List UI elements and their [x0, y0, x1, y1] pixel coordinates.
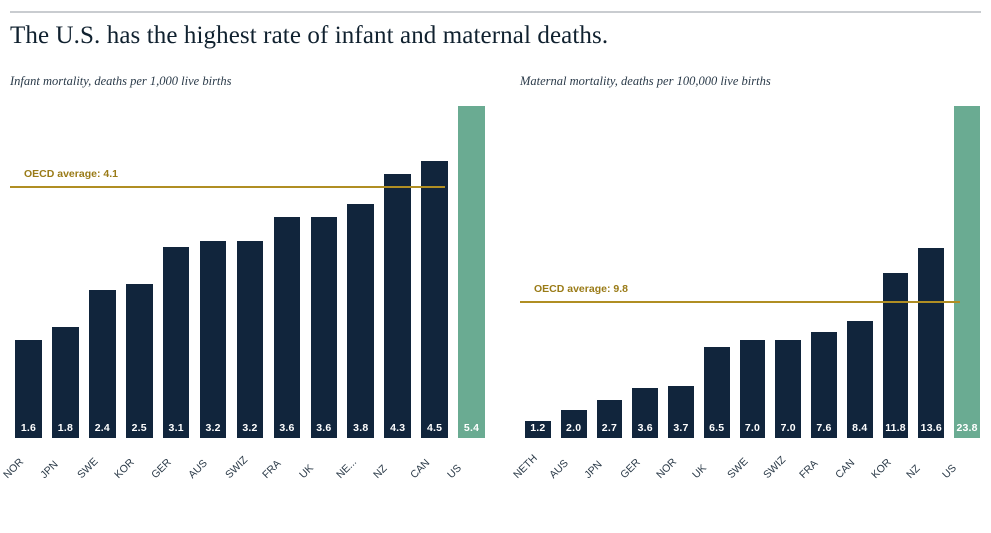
x-label-column: US	[453, 438, 490, 496]
bar: 1.8	[52, 327, 79, 438]
x-label-column: AUS	[195, 438, 232, 496]
bar-group-maternal: 1.22.02.73.63.76.57.07.07.68.411.813.623…	[520, 106, 985, 438]
bar-value-label: 23.8	[954, 422, 980, 434]
chart-subtitle-maternal: Maternal mortality, deaths per 100,000 l…	[520, 74, 985, 92]
bar-column: 7.6	[806, 106, 842, 438]
bar: 4.5	[421, 161, 448, 438]
bar: 2.0	[561, 410, 587, 438]
x-label-column: SWIZ	[232, 438, 269, 496]
x-label-column: JPN	[47, 438, 84, 496]
oecd-average-label-maternal: OECD average: 9.8	[534, 283, 628, 295]
bar: 1.6	[15, 340, 42, 438]
x-axis-labels-maternal: NETHAUSJPNGERNORUKSWESWIZFRACANKORNZUS	[520, 438, 985, 496]
bar-column: 1.8	[47, 106, 84, 438]
page-title: The U.S. has the highest rate of infant …	[10, 22, 950, 50]
bar-value-label: 2.5	[126, 422, 153, 434]
x-label-column: US	[949, 438, 985, 496]
x-axis-tick-label: NOR	[2, 456, 27, 481]
bar-value-label: 7.6	[811, 422, 837, 434]
x-label-column: NOR	[663, 438, 699, 496]
chart-subtitle-infant: Infant mortality, deaths per 1,000 live …	[10, 74, 490, 92]
bar-value-label: 1.8	[52, 422, 79, 434]
x-label-column: CAN	[416, 438, 453, 496]
bar-column: 2.5	[121, 106, 158, 438]
bar-column: 2.4	[84, 106, 121, 438]
bar-value-label: 1.2	[525, 422, 551, 434]
bar-column: 7.0	[735, 106, 771, 438]
bar-column: 5.4	[453, 106, 490, 438]
x-label-column: FRA	[268, 438, 305, 496]
bar-value-label: 4.5	[421, 422, 448, 434]
bar: 7.0	[775, 340, 801, 438]
bar: 2.7	[597, 400, 623, 438]
bar-column: 7.0	[770, 106, 806, 438]
bar-value-label: 3.7	[668, 422, 694, 434]
bar-value-label: 3.2	[200, 422, 227, 434]
bar-value-label: 2.7	[597, 422, 623, 434]
bar: 4.3	[384, 174, 411, 438]
bar-value-label: 8.4	[847, 422, 873, 434]
bar-value-label: 5.4	[458, 422, 485, 434]
bar-value-label: 4.3	[384, 422, 411, 434]
bar: 3.6	[311, 217, 338, 438]
x-label-column: UK	[305, 438, 342, 496]
bar-column: 3.2	[232, 106, 269, 438]
x-label-column: NETH	[520, 438, 556, 496]
bar-group-infant: 1.61.82.42.53.13.23.23.63.63.84.34.55.4	[10, 106, 490, 438]
bar-value-label: 3.6	[274, 422, 301, 434]
bar-column: 2.7	[592, 106, 628, 438]
bar: 3.6	[274, 217, 301, 438]
chart-panel-infant-mortality: Infant mortality, deaths per 1,000 live …	[10, 74, 490, 514]
bar-value-label: 3.8	[347, 422, 374, 434]
x-axis-labels-infant: NORJPNSWEKORGERAUSSWIZFRAUKNE...NZCANUS	[10, 438, 490, 496]
bar-column: 1.6	[10, 106, 47, 438]
bar-value-label: 7.0	[775, 422, 801, 434]
bar-value-label: 7.0	[740, 422, 766, 434]
bar-value-label: 13.6	[918, 422, 944, 434]
chart-page: The U.S. has the highest rate of infant …	[0, 0, 991, 533]
bar-value-label: 2.0	[561, 422, 587, 434]
x-label-column: GER	[158, 438, 195, 496]
bar-value-label: 3.6	[632, 422, 658, 434]
bar-value-label: 3.2	[237, 422, 264, 434]
bar-value-label: 6.5	[704, 422, 730, 434]
x-label-column: KOR	[121, 438, 158, 496]
bar-column: 11.8	[878, 106, 914, 438]
bar-column: 3.1	[158, 106, 195, 438]
bar-column: 3.8	[342, 106, 379, 438]
bar: 1.2	[525, 421, 551, 438]
bar-column: 13.6	[913, 106, 949, 438]
bar: 3.2	[237, 241, 264, 438]
oecd-average-line-infant	[10, 186, 445, 188]
plot-area-maternal: 1.22.02.73.63.76.57.07.07.68.411.813.623…	[520, 106, 985, 496]
bar-column: 4.5	[416, 106, 453, 438]
chart-panel-maternal-mortality: Maternal mortality, deaths per 100,000 l…	[520, 74, 985, 514]
bar-value-label: 3.6	[311, 422, 338, 434]
x-label-column: NZ	[379, 438, 416, 496]
bar: 3.8	[347, 204, 374, 438]
bar: 2.5	[126, 284, 153, 438]
bar-column: 4.3	[379, 106, 416, 438]
bar-column: 3.7	[663, 106, 699, 438]
bar-column: 8.4	[842, 106, 878, 438]
bar: 2.4	[89, 290, 116, 438]
x-label-column: FRA	[806, 438, 842, 496]
oecd-average-line-maternal	[520, 301, 960, 303]
bar-column: 3.6	[268, 106, 305, 438]
x-axis-tick-label: NETH	[511, 452, 540, 481]
oecd-average-label-infant: OECD average: 4.1	[24, 168, 118, 180]
bar: 11.8	[883, 273, 909, 438]
bar: 7.6	[811, 332, 837, 438]
plot-area-infant: 1.61.82.42.53.13.23.23.63.63.84.34.55.4 …	[10, 106, 490, 496]
x-label-column: NOR	[10, 438, 47, 496]
bar: 6.5	[704, 347, 730, 438]
bar: 3.2	[200, 241, 227, 438]
header-divider	[10, 11, 981, 13]
bar-column: 2.0	[556, 106, 592, 438]
bar: 23.8	[954, 106, 980, 438]
bar-value-label: 1.6	[15, 422, 42, 434]
bar-column: 3.6	[627, 106, 663, 438]
bar: 3.1	[163, 247, 190, 438]
bar-column: 3.2	[195, 106, 232, 438]
x-label-column: SWE	[84, 438, 121, 496]
bar-column: 1.2	[520, 106, 556, 438]
x-label-column: NE...	[342, 438, 379, 496]
bar-column: 3.6	[305, 106, 342, 438]
bar: 3.7	[668, 386, 694, 438]
bar: 5.4	[458, 106, 485, 438]
bar: 13.6	[918, 248, 944, 438]
bar-value-label: 2.4	[89, 422, 116, 434]
bar-value-label: 3.1	[163, 422, 190, 434]
bar-column: 23.8	[949, 106, 985, 438]
bar-value-label: 11.8	[883, 422, 909, 434]
bar: 3.6	[632, 388, 658, 438]
x-label-column: CAN	[842, 438, 878, 496]
bar: 7.0	[740, 340, 766, 438]
bar-column: 6.5	[699, 106, 735, 438]
bar: 8.4	[847, 321, 873, 438]
